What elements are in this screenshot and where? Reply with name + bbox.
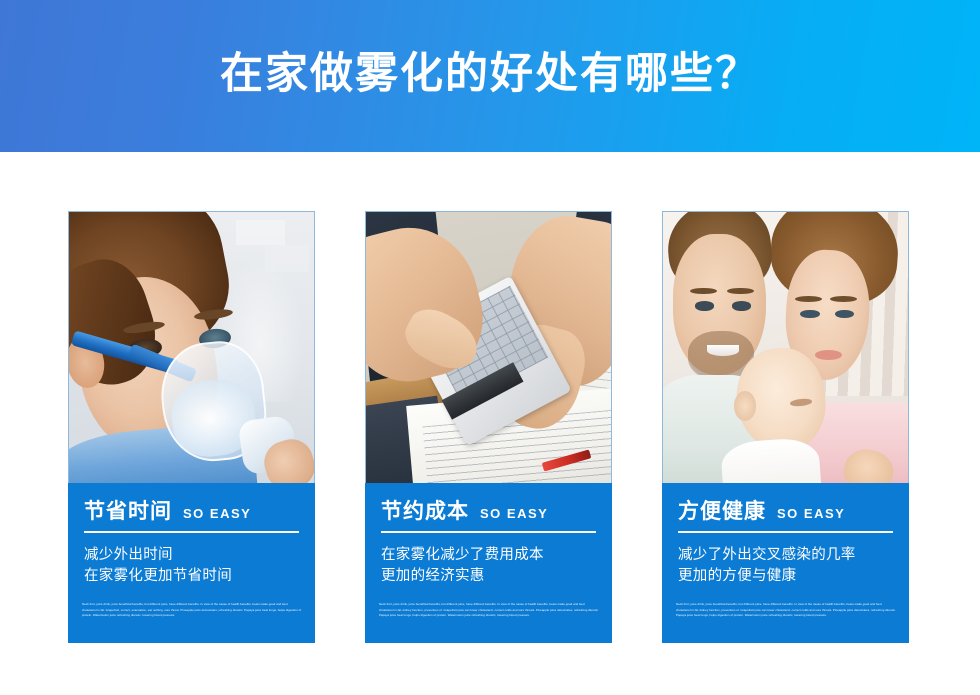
- divider: [381, 531, 596, 533]
- card-info-panel: 节省时间 SO EASY 减少外出时间 在家雾化更加节省时间 Neck frui…: [68, 483, 315, 643]
- card-description-line-1: 减少了外出交叉感染的几率: [678, 545, 895, 566]
- card-description: 减少外出时间 在家雾化更加节省时间: [82, 545, 301, 587]
- benefit-cards-row: 节省时间 SO EASY 减少外出时间 在家雾化更加节省时间 Neck frui…: [0, 152, 980, 695]
- benefit-card-convenient-health[interactable]: 方便健康 SO EASY 减少了外出交叉感染的几率 更加的方便与健康 Neck …: [662, 211, 909, 643]
- card-fine-print: Neck fruit, juice drink, juice beneficia…: [676, 602, 897, 619]
- page-title: 在家做雾化的好处有哪些？: [220, 53, 760, 100]
- divider: [678, 531, 893, 533]
- card-title: 方便健康: [678, 501, 766, 522]
- divider: [84, 531, 299, 533]
- card-description-line-2: 更加的方便与健康: [678, 566, 895, 587]
- card-heading-row: 方便健康 SO EASY: [676, 501, 895, 522]
- benefit-card-save-cost[interactable]: 节约成本 SO EASY 在家雾化减少了费用成本 更加的经济实惠 Neck fr…: [365, 211, 612, 643]
- card-description-line-2: 在家雾化更加节省时间: [84, 566, 301, 587]
- card-description: 减少了外出交叉感染的几率 更加的方便与健康: [676, 545, 895, 587]
- card-fine-print: Neck fruit, juice drink, juice beneficia…: [379, 602, 600, 619]
- card-description-line-1: 在家雾化减少了费用成本: [381, 545, 598, 566]
- family-with-baby-photo: [662, 211, 909, 483]
- card-heading-row: 节省时间 SO EASY: [82, 501, 301, 522]
- card-subtitle: SO EASY: [480, 507, 548, 520]
- hands-with-calculator-photo: [365, 211, 612, 483]
- card-description: 在家雾化减少了费用成本 更加的经济实惠: [379, 545, 598, 587]
- card-info-panel: 节约成本 SO EASY 在家雾化减少了费用成本 更加的经济实惠 Neck fr…: [365, 483, 612, 643]
- card-subtitle: SO EASY: [777, 507, 845, 520]
- card-heading-row: 节约成本 SO EASY: [379, 501, 598, 522]
- promo-page: 在家做雾化的好处有哪些？: [0, 0, 980, 695]
- card-description-line-2: 更加的经济实惠: [381, 566, 598, 587]
- card-fine-print: Neck fruit, juice drink, juice beneficia…: [82, 602, 303, 619]
- card-info-panel: 方便健康 SO EASY 减少了外出交叉感染的几率 更加的方便与健康 Neck …: [662, 483, 909, 643]
- card-title: 节约成本: [381, 501, 469, 522]
- card-description-line-1: 减少外出时间: [84, 545, 301, 566]
- card-subtitle: SO EASY: [183, 507, 251, 520]
- child-with-nebulizer-mask-photo: [68, 211, 315, 483]
- benefit-card-save-time[interactable]: 节省时间 SO EASY 减少外出时间 在家雾化更加节省时间 Neck frui…: [68, 211, 315, 643]
- card-title: 节省时间: [84, 501, 172, 522]
- header-banner: 在家做雾化的好处有哪些？: [0, 0, 980, 152]
